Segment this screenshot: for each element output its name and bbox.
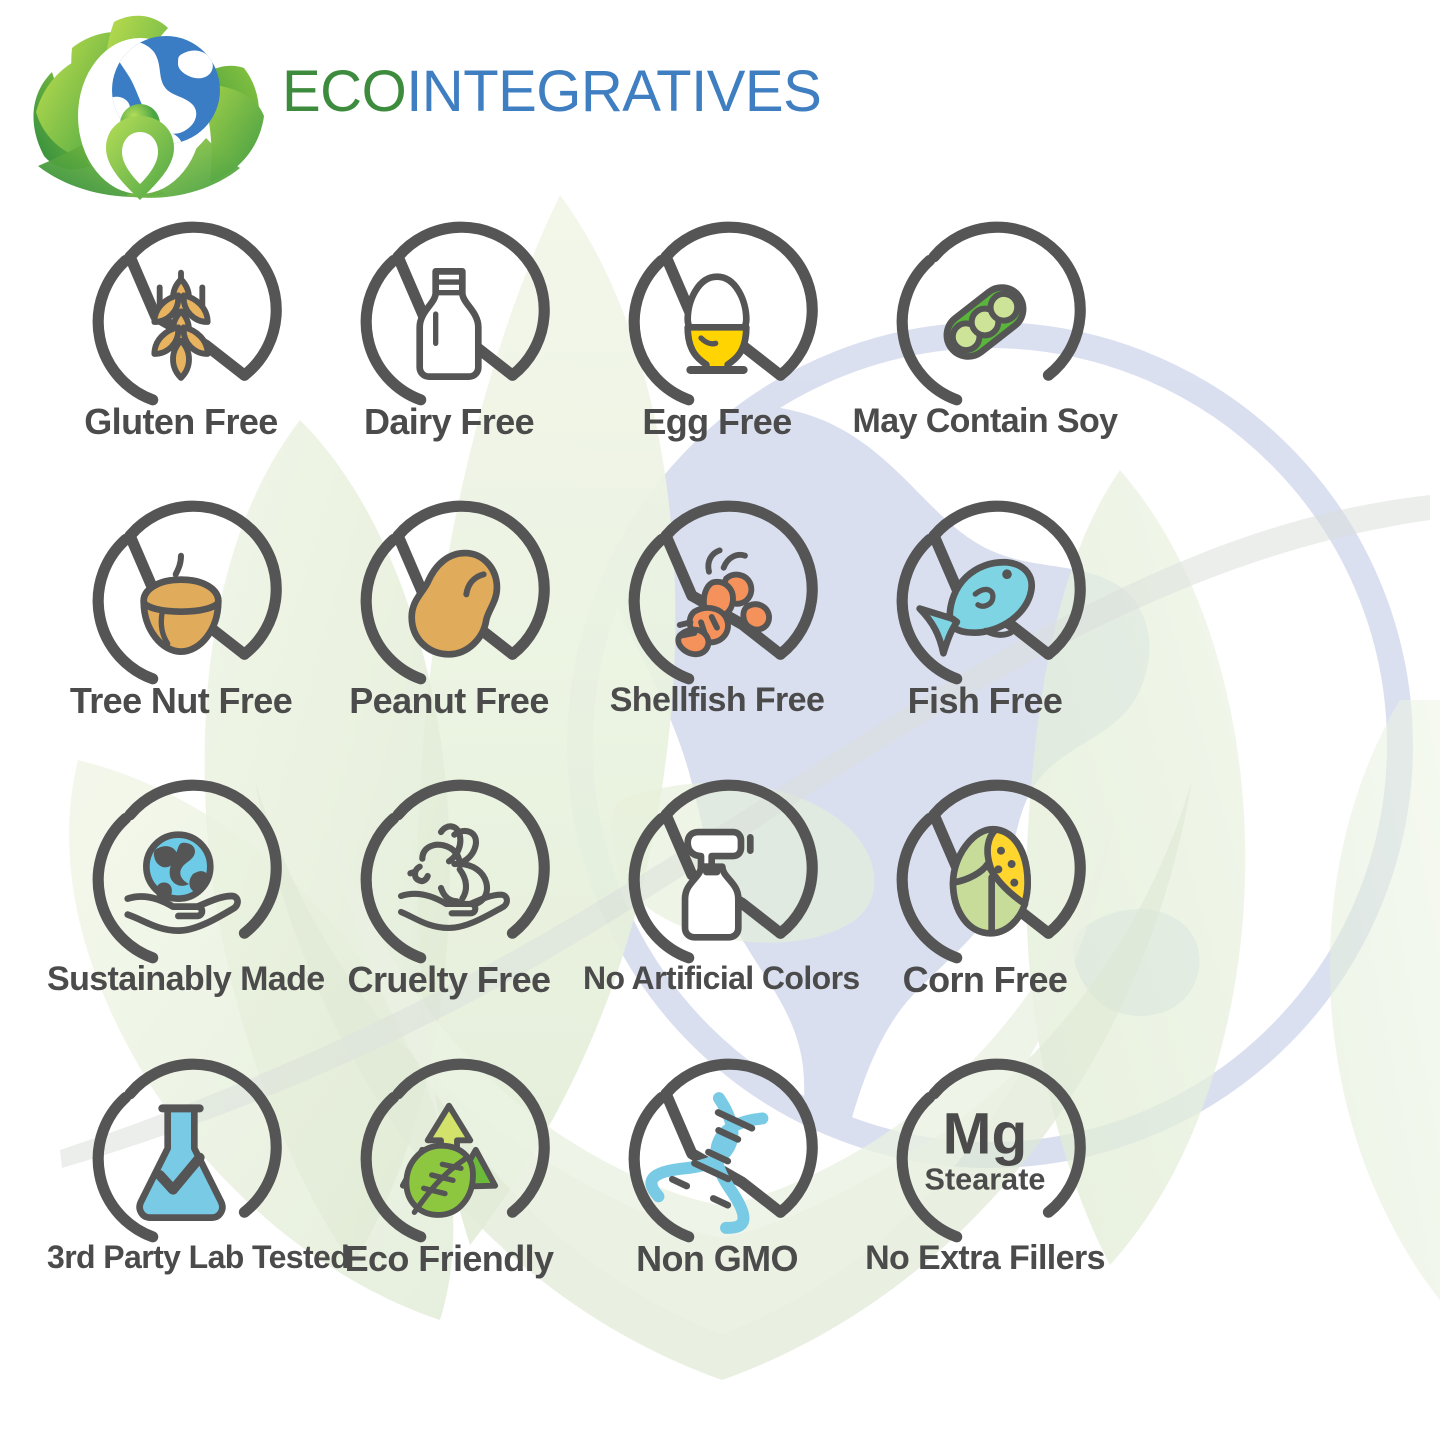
badge-no-extra-fillers[interactable]: Mg Stearate No Extra Fillers bbox=[851, 1069, 1119, 1275]
flask-check-icon-badge[interactable] bbox=[91, 1069, 271, 1249]
brand-word-eco: ECO bbox=[282, 59, 406, 124]
certification-badge-board: ECOINTEGRATIVES Gluten Free bbox=[0, 0, 1445, 1445]
badge-row: 3rd Party Lab Tested Eco Friendly bbox=[0, 1069, 1445, 1348]
brand-logo: ECOINTEGRATIVES bbox=[14, 6, 804, 206]
badge-may-contain-soy[interactable]: May Contain Soy bbox=[851, 232, 1119, 438]
badge-third-party-lab-tested[interactable]: 3rd Party Lab Tested bbox=[47, 1069, 315, 1273]
mg-stearate-text-icon-badge[interactable]: Mg Stearate bbox=[895, 1069, 1075, 1249]
dna-helix-icon-badge[interactable] bbox=[627, 1069, 807, 1249]
wheat-icon-badge[interactable] bbox=[91, 232, 271, 412]
egg-cup-icon-badge[interactable] bbox=[627, 232, 807, 412]
badge-gluten-free[interactable]: Gluten Free bbox=[47, 232, 315, 440]
spray-bottle-icon-badge[interactable] bbox=[627, 790, 807, 970]
badge-cruelty-free[interactable]: Cruelty Free bbox=[315, 790, 583, 998]
badge-shellfish-free[interactable]: Shellfish Free bbox=[583, 511, 851, 717]
eco-integratives-globe-leaves-logo bbox=[14, 6, 274, 206]
soy-pod-icon-badge[interactable] bbox=[895, 232, 1075, 412]
milk-bottle-icon bbox=[420, 271, 479, 376]
badge-eco-friendly[interactable]: Eco Friendly bbox=[315, 1069, 583, 1277]
mg-stearate-text-icon: Mg Stearate bbox=[925, 1102, 1046, 1197]
hand-globe-icon bbox=[128, 835, 238, 931]
badge-sustainably-made[interactable]: Sustainably Made bbox=[47, 790, 315, 996]
fish-icon bbox=[916, 549, 1049, 665]
badge-tree-nut-free[interactable]: Tree Nut Free bbox=[47, 511, 315, 719]
fish-icon-badge[interactable] bbox=[895, 511, 1075, 691]
lobster-icon-badge[interactable] bbox=[627, 511, 807, 691]
badge-dairy-free[interactable]: Dairy Free bbox=[315, 232, 583, 440]
badge-grid: Gluten Free Dairy Free Egg Free bbox=[0, 232, 1445, 1348]
svg-text:Stearate: Stearate bbox=[925, 1163, 1046, 1197]
badge-row: Tree Nut Free Peanut Free Shellfish Free bbox=[0, 511, 1445, 790]
badge-row: Gluten Free Dairy Free Egg Free bbox=[0, 232, 1445, 511]
flask-check-icon bbox=[140, 1108, 223, 1217]
badge-row: Sustainably Made Cruelty Free bbox=[0, 790, 1445, 1069]
recycle-leaf-icon-badge[interactable] bbox=[359, 1069, 539, 1249]
badge-ring bbox=[366, 785, 544, 958]
brand-word-integratives: INTEGRATIVES bbox=[406, 59, 821, 124]
egg-cup-icon bbox=[688, 277, 747, 370]
badge-egg-free[interactable]: Egg Free bbox=[583, 232, 851, 440]
hand-rabbit-icon bbox=[401, 826, 507, 928]
badge-no-artificial-colors[interactable]: No Artificial Colors bbox=[583, 790, 851, 994]
hand-globe-icon-badge[interactable] bbox=[91, 790, 271, 970]
acorn-icon bbox=[144, 556, 219, 652]
corn-cob-icon-badge[interactable] bbox=[895, 790, 1075, 970]
badge-non-gmo[interactable]: Non GMO bbox=[583, 1069, 851, 1277]
peanut-icon-badge[interactable] bbox=[359, 511, 539, 691]
acorn-icon-badge[interactable] bbox=[91, 511, 271, 691]
hand-rabbit-icon-badge[interactable] bbox=[359, 790, 539, 970]
brand-wordmark: ECOINTEGRATIVES bbox=[282, 58, 821, 125]
svg-text:Mg: Mg bbox=[943, 1102, 1028, 1167]
soy-pod-icon bbox=[938, 279, 1031, 365]
spray-bottle-icon bbox=[685, 832, 750, 937]
milk-bottle-icon-badge[interactable] bbox=[359, 232, 539, 412]
badge-fish-free[interactable]: Fish Free bbox=[851, 511, 1119, 719]
recycle-leaf-icon bbox=[392, 1106, 506, 1215]
corn-cob-icon bbox=[953, 829, 1028, 933]
badge-corn-free[interactable]: Corn Free bbox=[851, 790, 1119, 998]
badge-peanut-free[interactable]: Peanut Free bbox=[315, 511, 583, 719]
